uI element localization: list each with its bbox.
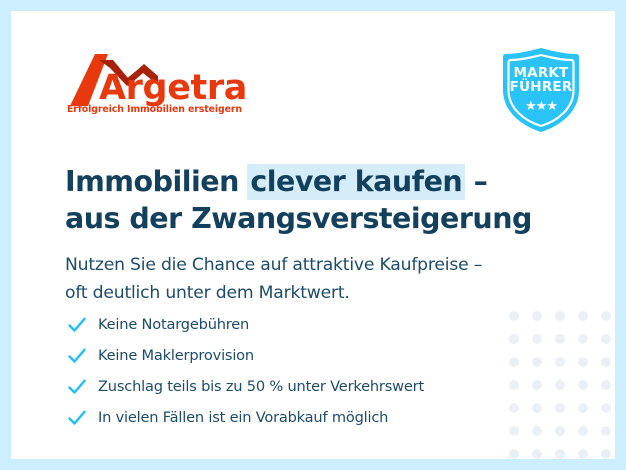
decorative-dot bbox=[532, 449, 542, 459]
list-item: Keine Maklerprovision bbox=[66, 340, 536, 371]
decorative-dot bbox=[555, 380, 565, 390]
decorative-dot bbox=[601, 426, 611, 436]
shield-icon bbox=[500, 46, 582, 134]
page-title: Immobilien clever kaufen – aus der Zwang… bbox=[65, 163, 535, 237]
decorative-dot bbox=[578, 403, 588, 413]
check-icon bbox=[66, 345, 88, 367]
list-item: Keine Notargebühren bbox=[66, 309, 536, 340]
decorative-dot bbox=[578, 380, 588, 390]
decorative-dot bbox=[578, 311, 588, 321]
headline-line1-before: Immobilien bbox=[65, 165, 248, 198]
subtitle-line-1: Nutzen Sie die Chance auf attraktive Kau… bbox=[65, 255, 482, 275]
decorative-dot bbox=[601, 449, 611, 459]
headline-highlight: clever kaufen bbox=[247, 164, 465, 200]
list-item-label: In vielen Fällen ist ein Vorabkauf mögli… bbox=[98, 409, 388, 426]
decorative-dot bbox=[601, 380, 611, 390]
decorative-dot bbox=[601, 334, 611, 344]
headline-line1-after: – bbox=[464, 165, 487, 198]
decorative-dot bbox=[601, 403, 611, 413]
list-item-label: Keine Notargebühren bbox=[98, 316, 249, 333]
banner-canvas: Argetra Erfolgreich Immobilien ersteiger… bbox=[0, 0, 626, 470]
decorative-dot bbox=[555, 334, 565, 344]
logo-tagline: Erfolgreich Immobilien ersteigern bbox=[67, 104, 242, 115]
decorative-dot bbox=[555, 311, 565, 321]
logo-wordmark: Argetra bbox=[99, 71, 247, 106]
markt-fuehrer-badge: MARKT FÜHRER ★★★ bbox=[500, 46, 582, 134]
headline-line2: aus der Zwangsversteigerung bbox=[65, 202, 532, 235]
subtitle: Nutzen Sie die Chance auf attraktive Kau… bbox=[65, 251, 565, 307]
decorative-dot bbox=[601, 357, 611, 367]
check-icon bbox=[66, 314, 88, 336]
benefits-checklist: Keine NotargebührenKeine Maklerprovision… bbox=[66, 309, 536, 433]
list-item: Zuschlag teils bis zu 50 % unter Verkehr… bbox=[66, 371, 536, 402]
banner-card: Argetra Erfolgreich Immobilien ersteiger… bbox=[11, 11, 615, 459]
decorative-dot bbox=[555, 449, 565, 459]
argetra-logo[interactable]: Argetra Erfolgreich Immobilien ersteiger… bbox=[66, 54, 266, 124]
decorative-dot bbox=[578, 449, 588, 459]
decorative-dot bbox=[578, 334, 588, 344]
list-item-label: Keine Maklerprovision bbox=[98, 347, 254, 364]
decorative-dot bbox=[578, 357, 588, 367]
list-item-label: Zuschlag teils bis zu 50 % unter Verkehr… bbox=[98, 378, 424, 395]
decorative-dot bbox=[555, 426, 565, 436]
subtitle-line-2: oft deutlich unter dem Marktwert. bbox=[65, 283, 350, 303]
decorative-dot bbox=[555, 357, 565, 367]
decorative-dot bbox=[509, 449, 519, 459]
list-item: In vielen Fällen ist ein Vorabkauf mögli… bbox=[66, 402, 536, 433]
decorative-dot bbox=[555, 403, 565, 413]
check-icon bbox=[66, 376, 88, 398]
decorative-dot bbox=[601, 311, 611, 321]
decorative-dot bbox=[578, 426, 588, 436]
check-icon bbox=[66, 407, 88, 429]
